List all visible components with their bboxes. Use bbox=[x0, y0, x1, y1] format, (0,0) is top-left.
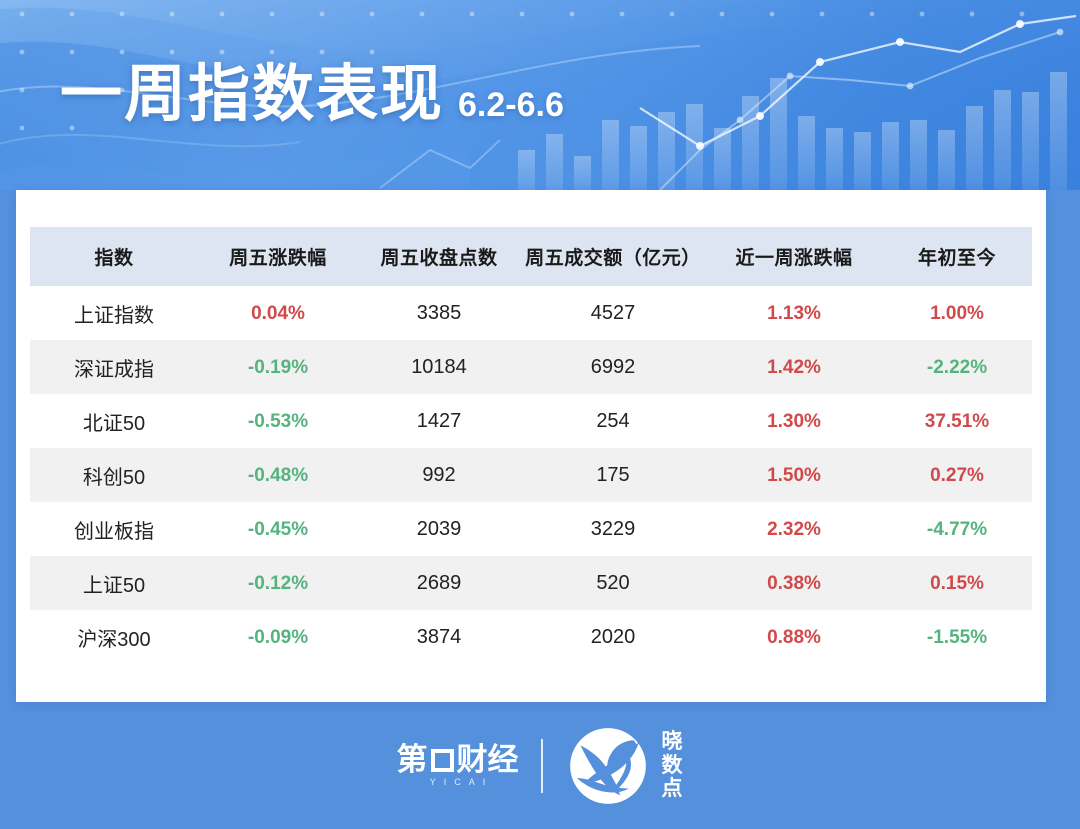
table-row: 北证50 -0.53% 1427 254 1.30% 37.51% bbox=[30, 394, 1032, 448]
value-ytd-change: 0.15% bbox=[930, 573, 984, 594]
cell-index-name: 北证50 bbox=[30, 394, 198, 448]
cell-index-name: 科创50 bbox=[30, 448, 198, 502]
cell-friday-close: 10184 bbox=[358, 340, 520, 394]
cell-friday-turnover: 6992 bbox=[520, 340, 706, 394]
table-row: 上证指数 0.04% 3385 4527 1.13% 1.00% bbox=[30, 286, 1032, 340]
cell-friday-close: 2039 bbox=[358, 502, 520, 556]
table-row: 上证50 -0.12% 2689 520 0.38% 0.15% bbox=[30, 556, 1032, 610]
column-header-week-change: 近一周涨跌幅 bbox=[706, 227, 882, 286]
index-performance-table: 指数 周五涨跌幅 周五收盘点数 周五成交额（亿元） 近一周涨跌幅 年初至今 上证… bbox=[30, 227, 1032, 664]
yicai-pinyin-label: YICAI bbox=[422, 778, 494, 787]
yicai-char-di: 第 bbox=[397, 744, 428, 775]
table-row: 沪深300 -0.09% 3874 2020 0.88% -1.55% bbox=[30, 610, 1032, 664]
value-week-change: 1.50% bbox=[767, 465, 821, 486]
table-row: 深证成指 -0.19% 10184 6992 1.42% -2.22% bbox=[30, 340, 1032, 394]
cell-index-name: 上证指数 bbox=[30, 286, 198, 340]
value-friday-change: -0.19% bbox=[248, 357, 308, 378]
cell-friday-close: 992 bbox=[358, 448, 520, 502]
header-banner: 一周指数表现 6.2-6.6 bbox=[0, 0, 1080, 190]
column-header-index: 指数 bbox=[30, 227, 198, 286]
cell-friday-change: -0.48% bbox=[198, 448, 358, 502]
yicai-char-caijing: 财经 bbox=[457, 744, 519, 775]
cell-ytd-change: 0.27% bbox=[882, 448, 1032, 502]
xiaoshudian-logo-group: 晓 数 点 bbox=[565, 723, 684, 809]
value-week-change: 0.88% bbox=[767, 627, 821, 648]
value-week-change: 0.38% bbox=[767, 573, 821, 594]
cell-ytd-change: 0.15% bbox=[882, 556, 1032, 610]
value-week-change: 2.32% bbox=[767, 519, 821, 540]
xs-circle-icon bbox=[565, 723, 651, 809]
table-body: 上证指数 0.04% 3385 4527 1.13% 1.00% 深证成指 -0… bbox=[30, 286, 1032, 664]
page-title: 一周指数表现 bbox=[60, 64, 444, 126]
cell-friday-change: 0.04% bbox=[198, 286, 358, 340]
yicai-logo: 第 财经 YICAI bbox=[397, 744, 519, 787]
column-header-friday-change: 周五涨跌幅 bbox=[198, 227, 358, 286]
value-ytd-change: -2.22% bbox=[927, 357, 987, 378]
banner-title-group: 一周指数表现 6.2-6.6 bbox=[60, 64, 564, 126]
cell-week-change: 2.32% bbox=[706, 502, 882, 556]
cell-friday-turnover: 520 bbox=[520, 556, 706, 610]
cell-week-change: 1.13% bbox=[706, 286, 882, 340]
column-header-friday-turnover: 周五成交额（亿元） bbox=[520, 227, 706, 286]
value-friday-change: -0.45% bbox=[248, 519, 308, 540]
cell-friday-change: -0.19% bbox=[198, 340, 358, 394]
xs-label-char2: 数 bbox=[662, 754, 684, 778]
cell-friday-turnover: 175 bbox=[520, 448, 706, 502]
cell-friday-close: 2689 bbox=[358, 556, 520, 610]
cell-friday-turnover: 4527 bbox=[520, 286, 706, 340]
cell-week-change: 0.88% bbox=[706, 610, 882, 664]
value-friday-change: -0.12% bbox=[248, 573, 308, 594]
yicai-square-icon bbox=[431, 749, 454, 772]
cell-friday-close: 3385 bbox=[358, 286, 520, 340]
cell-ytd-change: -4.77% bbox=[882, 502, 1032, 556]
table-header-row: 指数 周五涨跌幅 周五收盘点数 周五成交额（亿元） 近一周涨跌幅 年初至今 bbox=[30, 227, 1032, 286]
value-ytd-change: 1.00% bbox=[930, 303, 984, 324]
cell-friday-close: 1427 bbox=[358, 394, 520, 448]
cell-week-change: 0.38% bbox=[706, 556, 882, 610]
cell-ytd-change: -2.22% bbox=[882, 340, 1032, 394]
cell-friday-turnover: 254 bbox=[520, 394, 706, 448]
footer-branding: 第 财经 YICAI 晓 数 点 bbox=[0, 702, 1080, 829]
value-ytd-change: -4.77% bbox=[927, 519, 987, 540]
value-friday-change: -0.48% bbox=[248, 465, 308, 486]
cell-index-name: 创业板指 bbox=[30, 502, 198, 556]
xs-label-char1: 晓 bbox=[662, 730, 684, 754]
cell-friday-change: -0.53% bbox=[198, 394, 358, 448]
cell-ytd-change: -1.55% bbox=[882, 610, 1032, 664]
column-header-friday-close: 周五收盘点数 bbox=[358, 227, 520, 286]
cell-week-change: 1.50% bbox=[706, 448, 882, 502]
column-header-ytd-change: 年初至今 bbox=[882, 227, 1032, 286]
date-range-label: 6.2-6.6 bbox=[458, 88, 564, 126]
value-week-change: 1.13% bbox=[767, 303, 821, 324]
value-ytd-change: 37.51% bbox=[925, 411, 989, 432]
value-week-change: 1.42% bbox=[767, 357, 821, 378]
value-friday-change: -0.53% bbox=[248, 411, 308, 432]
value-friday-change: 0.04% bbox=[251, 303, 305, 324]
yicai-logo-main: 第 财经 bbox=[397, 744, 519, 775]
cell-friday-change: -0.45% bbox=[198, 502, 358, 556]
table-row: 创业板指 -0.45% 2039 3229 2.32% -4.77% bbox=[30, 502, 1032, 556]
cell-friday-change: -0.12% bbox=[198, 556, 358, 610]
cell-index-name: 沪深300 bbox=[30, 610, 198, 664]
footer-divider bbox=[541, 739, 543, 793]
cell-index-name: 上证50 bbox=[30, 556, 198, 610]
index-table-card: 指数 周五涨跌幅 周五收盘点数 周五成交额（亿元） 近一周涨跌幅 年初至今 上证… bbox=[16, 190, 1046, 702]
value-ytd-change: 0.27% bbox=[930, 465, 984, 486]
cell-index-name: 深证成指 bbox=[30, 340, 198, 394]
value-ytd-change: -1.55% bbox=[927, 627, 987, 648]
value-friday-change: -0.09% bbox=[248, 627, 308, 648]
cell-ytd-change: 1.00% bbox=[882, 286, 1032, 340]
value-week-change: 1.30% bbox=[767, 411, 821, 432]
cell-friday-turnover: 2020 bbox=[520, 610, 706, 664]
cell-week-change: 1.42% bbox=[706, 340, 882, 394]
cell-friday-change: -0.09% bbox=[198, 610, 358, 664]
cell-friday-turnover: 3229 bbox=[520, 502, 706, 556]
cell-week-change: 1.30% bbox=[706, 394, 882, 448]
cell-ytd-change: 37.51% bbox=[882, 394, 1032, 448]
xiaoshudian-label: 晓 数 点 bbox=[662, 730, 684, 801]
xs-label-char3: 点 bbox=[662, 777, 684, 801]
cell-friday-close: 3874 bbox=[358, 610, 520, 664]
table-row: 科创50 -0.48% 992 175 1.50% 0.27% bbox=[30, 448, 1032, 502]
